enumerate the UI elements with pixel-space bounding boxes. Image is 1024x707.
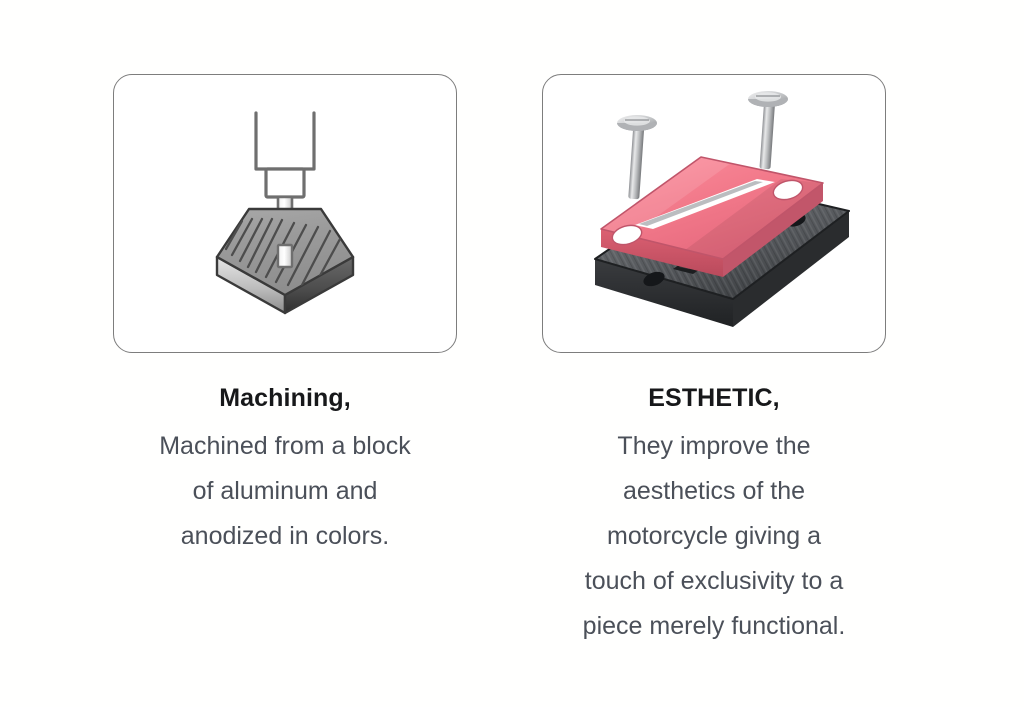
machining-card bbox=[113, 74, 457, 353]
esthetic-body-line-3: motorcycle giving a bbox=[542, 514, 886, 559]
end-mill-tip bbox=[278, 245, 292, 267]
screw-left-head bbox=[617, 115, 657, 131]
esthetic-body-line-4: touch of exclusivity to a bbox=[542, 559, 886, 604]
cnc-milling-icon bbox=[170, 99, 400, 329]
collet-holder bbox=[266, 169, 304, 197]
esthetic-card-media bbox=[543, 75, 885, 352]
esthetic-body-line-2: aesthetics of the bbox=[542, 469, 886, 514]
esthetic-title: ESTHETIC, bbox=[542, 381, 886, 415]
feature-card-esthetic: ESTHETIC, They improve the aesthetics of… bbox=[542, 74, 886, 649]
machining-body-line-1: Machined from a block bbox=[113, 424, 457, 469]
esthetic-body: They improve the aesthetics of the motor… bbox=[542, 424, 886, 649]
machining-body: Machined from a block of aluminum and an… bbox=[113, 424, 457, 559]
esthetic-card bbox=[542, 74, 886, 353]
feature-columns: Machining, Machined from a block of alum… bbox=[0, 0, 1024, 707]
machining-body-line-3: anodized in colors. bbox=[113, 514, 457, 559]
screw-right-head bbox=[748, 91, 788, 107]
anodized-bracket-photo bbox=[561, 83, 867, 345]
feature-section: Machining, Machined from a block of alum… bbox=[0, 0, 1024, 707]
feature-card-machining: Machining, Machined from a block of alum… bbox=[113, 74, 457, 559]
esthetic-body-line-5: piece merely functional. bbox=[542, 604, 886, 649]
machining-body-line-2: of aluminum and bbox=[113, 469, 457, 514]
esthetic-body-line-1: They improve the bbox=[542, 424, 886, 469]
machining-caption: Machining, Machined from a block of alum… bbox=[113, 381, 457, 559]
machining-card-media bbox=[114, 75, 456, 352]
esthetic-caption: ESTHETIC, They improve the aesthetics of… bbox=[542, 381, 886, 649]
machining-title: Machining, bbox=[113, 381, 457, 415]
spindle-yoke bbox=[256, 113, 314, 169]
